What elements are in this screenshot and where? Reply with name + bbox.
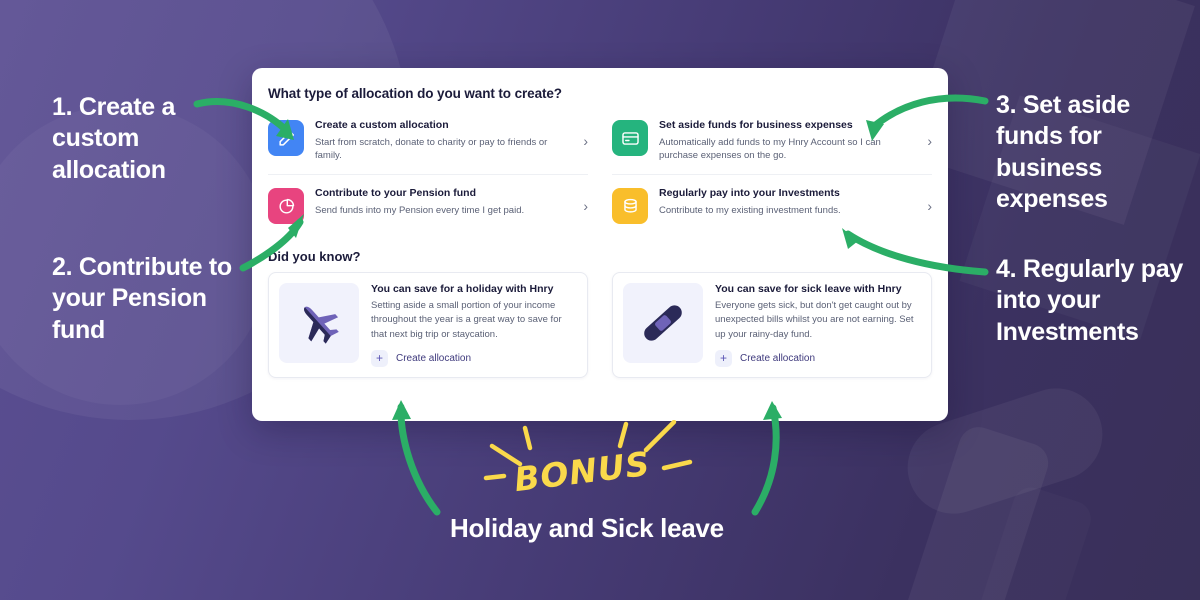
allocation-description: Contribute to my existing investment fun… [659,204,916,218]
allocation-description: Send funds into my Pension every time I … [315,204,572,218]
did-you-know-description: Setting aside a small portion of your in… [371,299,577,342]
pencil-icon [268,120,304,156]
plus-icon: + [371,350,388,367]
did-you-know-body: You can save for a holiday with Hnry Set… [371,283,577,367]
chevron-right-icon[interactable]: › [916,198,932,214]
create-allocation-link-holiday[interactable]: + Create allocation [371,350,577,367]
annotation-three: 3. Set aside funds for business expenses [996,90,1186,215]
allocation-description: Start from scratch, donate to charity or… [315,136,572,164]
did-you-know-heading: You can save for sick leave with Hnry [715,283,921,295]
chevron-right-icon[interactable]: › [572,133,588,149]
create-allocation-link-sick-leave[interactable]: + Create allocation [715,350,921,367]
allocation-heading: Set aside funds for business expenses [659,119,916,133]
did-you-know-title: Did you know? [268,249,932,264]
did-you-know-card-holiday[interactable]: You can save for a holiday with Hnry Set… [268,272,588,378]
airplane-icon [279,283,359,363]
pie-chart-icon [268,188,304,224]
allocation-description: Automatically add funds to my Hnry Accou… [659,136,916,164]
create-allocation-label: Create allocation [740,353,815,364]
did-you-know-body: You can save for sick leave with Hnry Ev… [715,283,921,367]
allocation-grid: Create a custom allocation Start from sc… [268,107,932,235]
page-title: What type of allocation do you want to c… [268,86,932,101]
allocation-text: Set aside funds for business expenses Au… [659,119,916,163]
allocation-text: Regularly pay into your Investments Cont… [659,187,916,217]
allocation-column-left: Create a custom allocation Start from sc… [268,107,588,235]
allocation-heading: Contribute to your Pension fund [315,187,572,201]
allocation-heading: Create a custom allocation [315,119,572,133]
coin-stack-icon [612,188,648,224]
did-you-know-grid: You can save for a holiday with Hnry Set… [268,272,932,378]
did-you-know-heading: You can save for a holiday with Hnry [371,283,577,295]
annotation-bottom: Holiday and Sick leave [450,512,750,545]
credit-card-icon [612,120,648,156]
annotation-two: 2. Contribute to your Pension fund [52,252,252,346]
chevron-right-icon[interactable]: › [572,198,588,214]
allocation-option-custom[interactable]: Create a custom allocation Start from sc… [268,107,588,175]
bonus-badge: BONUS [478,420,693,500]
allocation-option-business-expenses[interactable]: Set aside funds for business expenses Au… [612,107,932,175]
plus-icon: + [715,350,732,367]
allocation-option-investments[interactable]: Regularly pay into your Investments Cont… [612,175,932,235]
bandage-icon [623,283,703,363]
allocation-panel: What type of allocation do you want to c… [252,68,948,421]
annotation-one: 1. Create a custom allocation [52,92,237,186]
allocation-heading: Regularly pay into your Investments [659,187,916,201]
allocation-text: Contribute to your Pension fund Send fun… [315,187,572,217]
did-you-know-card-sick-leave[interactable]: You can save for sick leave with Hnry Ev… [612,272,932,378]
did-you-know-description: Everyone gets sick, but don't get caught… [715,299,921,342]
allocation-option-pension[interactable]: Contribute to your Pension fund Send fun… [268,175,588,235]
allocation-column-right: Set aside funds for business expenses Au… [612,107,932,235]
allocation-text: Create a custom allocation Start from sc… [315,119,572,163]
annotation-four: 4. Regularly pay into your Investments [996,254,1191,348]
chevron-right-icon[interactable]: › [916,133,932,149]
create-allocation-label: Create allocation [396,353,471,364]
